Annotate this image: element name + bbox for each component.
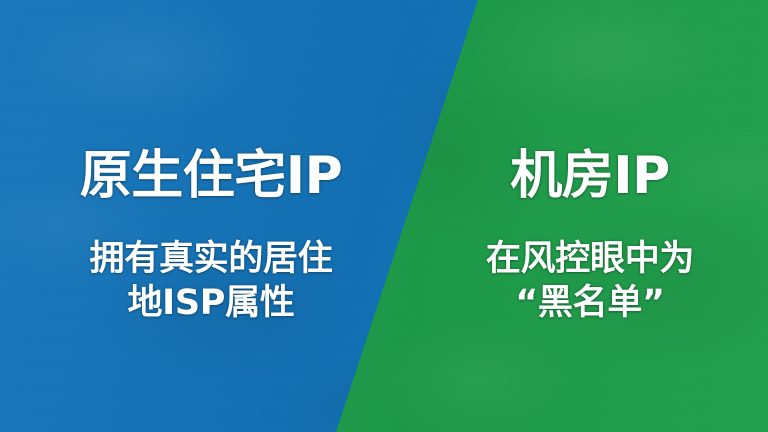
comparison-graphic: 原生住宅IP 拥有真实的居住 地ISP属性 机房IP 在风控眼中为 “黑名单” <box>0 0 768 432</box>
left-headline: 原生住宅IP <box>16 150 406 202</box>
right-subtitle-line-1: 在风控眼中为 <box>440 242 740 277</box>
left-subtitle-line-1: 拥有真实的居住 <box>16 242 406 277</box>
left-subtitle: 拥有真实的居住 地ISP属性 <box>16 242 406 321</box>
right-headline: 机房IP <box>440 150 740 202</box>
left-subtitle-line-2: 地ISP属性 <box>16 286 406 321</box>
left-side-content: 原生住宅IP 拥有真实的居住 地ISP属性 <box>16 150 406 321</box>
right-subtitle-line-2: “黑名单” <box>440 286 740 321</box>
right-subtitle: 在风控眼中为 “黑名单” <box>440 242 740 321</box>
right-side-content: 机房IP 在风控眼中为 “黑名单” <box>440 150 740 321</box>
